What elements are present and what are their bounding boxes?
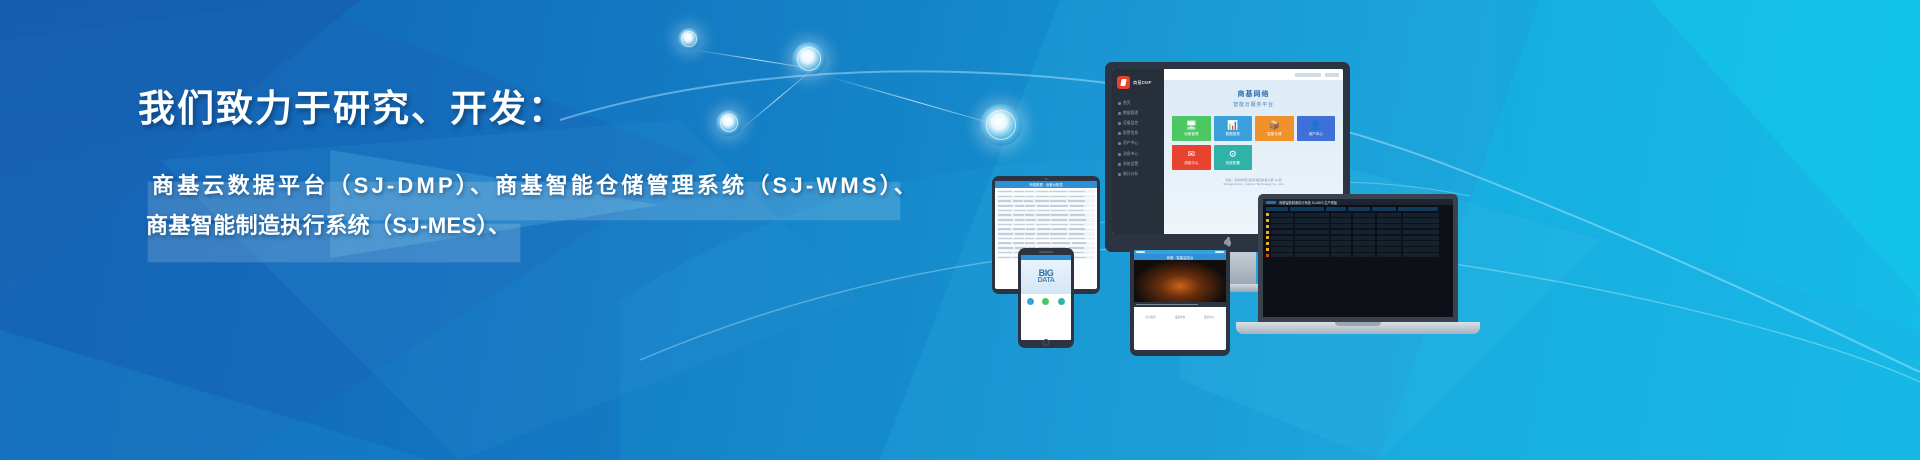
cell: [1377, 213, 1401, 217]
status-badge: [1266, 254, 1269, 257]
home-icon: [1118, 102, 1121, 105]
cell: [1403, 218, 1439, 222]
cell: [1353, 224, 1375, 228]
camera-icon: [1045, 178, 1048, 181]
page-title: 我们致力于研究、开发：: [138, 86, 958, 132]
status-badge: [1266, 236, 1269, 239]
cell: [1068, 200, 1085, 202]
cell: [1271, 230, 1293, 234]
cell: [1377, 247, 1401, 251]
laptop-mockup: 商基智能制造执行系统 SJ-MES 生产看板: [1258, 194, 1458, 322]
cell: [1069, 191, 1085, 193]
table-row[interactable]: [1266, 224, 1450, 228]
table-row[interactable]: [997, 213, 1095, 216]
cell: [1070, 224, 1084, 226]
tablet-portrait-mockup: 商基 · 智能监控台 实时监控 设备状态 报表中心: [1130, 244, 1230, 356]
cell: [998, 247, 1013, 249]
cell: [1050, 196, 1067, 198]
cell: [1050, 233, 1067, 235]
cell: [1403, 230, 1439, 234]
tile-spacer: [1255, 145, 1294, 170]
cell: [1271, 241, 1293, 245]
logo-icon: [1117, 76, 1130, 89]
cell: [1068, 238, 1085, 240]
dashboard-tile-3[interactable]: 👤用户中心: [1297, 116, 1336, 141]
cell: [1331, 218, 1351, 222]
cell: [1403, 224, 1439, 228]
sidebar-item-7[interactable]: 统计分析: [1117, 169, 1159, 179]
status-badge: [1266, 213, 1269, 216]
cell: [1271, 213, 1293, 217]
status-badge: [1266, 248, 1269, 251]
dashboard-tiles-row-1: 🖥设备管理 📊数据报表 📦智能仓储 👤用户中心: [1164, 108, 1343, 145]
table-row[interactable]: [997, 232, 1095, 235]
gear-icon: ⚙: [1229, 150, 1237, 159]
col-1: [1290, 207, 1324, 211]
hero-copy: 我们致力于研究、开发： 商基云数据平台（SJ-DMP）、商基智能仓储管理系统（S…: [138, 86, 958, 246]
cell: [1014, 191, 1024, 193]
cell: [1271, 253, 1293, 257]
sidebar-item-label: 首页: [1123, 101, 1131, 106]
cell: [1353, 236, 1375, 240]
cell: [1295, 213, 1329, 217]
table-row[interactable]: [997, 195, 1095, 198]
table-row[interactable]: [1266, 253, 1450, 257]
cell: [998, 205, 1013, 207]
cell: [1036, 214, 1050, 216]
cell: [1295, 253, 1329, 257]
cell: [1377, 224, 1401, 228]
cell: [1013, 242, 1024, 244]
cell: [1069, 228, 1085, 230]
chart-icon: [1118, 173, 1121, 176]
cell: [1353, 230, 1375, 234]
cell: [1037, 210, 1050, 212]
cell: [998, 219, 1013, 221]
phone-mockup: BIG DATA: [1018, 248, 1074, 348]
cell: [1353, 241, 1375, 245]
cell: [1070, 214, 1085, 216]
user-icon: [1118, 142, 1121, 145]
dashboard-sidebar[interactable]: 商基DMP 首页 数据管理 设备监控 报警信息 用户中心 消息中心 系统设置 统…: [1112, 69, 1164, 234]
tablet-title: 商基数据 · 设备台账表: [1029, 182, 1063, 187]
cell: [1331, 224, 1351, 228]
col-4: [1372, 207, 1396, 211]
device-cluster: 商基DMP 首页 数据管理 设备监控 报警信息 用户中心 消息中心 系统设置 统…: [1010, 48, 1530, 348]
sidebar-item-6[interactable]: 系统设置: [1117, 159, 1159, 169]
cell: [1353, 247, 1375, 251]
product-line-2: 商基智能制造执行系统（SJ-MES）、: [138, 206, 517, 246]
trackpad-notch: [1335, 322, 1381, 326]
phone-hero: BIG DATA: [1021, 260, 1071, 294]
cell: [1295, 241, 1329, 245]
tile-label: 设备管理: [1184, 132, 1198, 137]
cell: [1036, 238, 1049, 240]
cell: [1068, 210, 1084, 212]
table-row[interactable]: [997, 204, 1095, 207]
sidebar-item-2[interactable]: 设备监控: [1117, 118, 1159, 128]
cell: [1403, 253, 1439, 257]
cell: [1013, 228, 1025, 230]
box-icon: 📦: [1269, 121, 1280, 130]
cell: [1038, 219, 1050, 221]
bigdata-data: DATA: [1038, 277, 1055, 285]
mes-title: 商基智能制造执行系统 SJ-MES 生产看板: [1279, 200, 1337, 205]
dashboard-topbar: [1164, 69, 1343, 80]
sidebar-item-label: 设备监控: [1123, 121, 1138, 126]
cell: [998, 257, 1011, 259]
cell: [1025, 238, 1034, 240]
table-row[interactable]: [997, 209, 1095, 212]
cell: [1025, 191, 1034, 193]
tablet-app-1[interactable]: 设备状态: [1167, 313, 1192, 319]
dashboard-tile-2[interactable]: 📦智能仓储: [1255, 116, 1294, 141]
phone-screen: BIG DATA: [1021, 255, 1071, 340]
tile-label: 数据报表: [1226, 132, 1240, 137]
cell: [1331, 253, 1351, 257]
table-row[interactable]: [1266, 241, 1450, 245]
cell: [1353, 218, 1375, 222]
bell-icon: [1118, 132, 1121, 135]
cell: [998, 214, 1011, 216]
cell: [1015, 219, 1025, 221]
cell: [1015, 233, 1024, 235]
dashboard-tile-5[interactable]: ⚙系统配置: [1214, 145, 1253, 170]
cell: [1037, 233, 1049, 235]
cell: [1026, 224, 1034, 226]
app-icon-1[interactable]: [1027, 298, 1034, 305]
bigdata-wordmark: BIG DATA: [1038, 269, 1055, 285]
col-5: [1398, 207, 1438, 211]
table-row[interactable]: [997, 228, 1095, 231]
cell: [1271, 247, 1293, 251]
cell: [998, 210, 1012, 212]
status-badge: [1266, 219, 1269, 222]
cell: [1051, 214, 1068, 216]
speaker-icon: [1039, 251, 1053, 253]
tablet-portrait-screen: 商基 · 智能监控台 实时监控 设备状态 报表中心: [1134, 250, 1226, 350]
cell: [998, 233, 1013, 235]
table-row[interactable]: [997, 190, 1095, 193]
cell: [1050, 238, 1066, 240]
cell: [1026, 228, 1035, 230]
col-0: [1266, 207, 1288, 211]
laptop-base: [1236, 322, 1480, 334]
cell: [1027, 210, 1035, 212]
sidebar-item-4[interactable]: 用户中心: [1117, 139, 1159, 149]
caption-bar: [1136, 304, 1198, 305]
cell: [1036, 196, 1049, 198]
table-row[interactable]: [1266, 236, 1450, 240]
cell: [1026, 196, 1034, 198]
tile-label: 用户中心: [1309, 132, 1323, 137]
brand-logo: 商基DMP: [1117, 76, 1159, 89]
cell: [1037, 205, 1049, 207]
cell: [1036, 224, 1049, 226]
user-icon: 👤: [1310, 121, 1321, 130]
table-row[interactable]: [1266, 247, 1450, 251]
network-node: [678, 28, 700, 50]
home-button-icon[interactable]: [1043, 339, 1050, 346]
tablet-app-label: 报表中心: [1197, 315, 1222, 319]
cell: [998, 191, 1012, 193]
col-3: [1348, 207, 1370, 211]
table-row[interactable]: [997, 242, 1095, 245]
mail-icon: ✉: [1187, 150, 1195, 159]
cell: [1014, 224, 1025, 226]
cell: [1069, 219, 1086, 221]
cell: [1271, 236, 1293, 240]
cell: [1025, 205, 1035, 207]
mes-table: [1263, 205, 1453, 261]
cell: [1050, 224, 1068, 226]
cell: [1271, 218, 1293, 222]
cell: [1050, 205, 1068, 207]
cell: [1025, 242, 1035, 244]
cell: [1025, 214, 1034, 216]
sidebar-item-label: 数据管理: [1123, 111, 1138, 116]
cell: [1025, 233, 1035, 235]
table-header-row: [1266, 207, 1450, 211]
table-row[interactable]: [997, 199, 1095, 202]
cell: [1331, 213, 1351, 217]
gear-icon: [1118, 163, 1121, 166]
cell: [1295, 247, 1329, 251]
cell: [998, 224, 1012, 226]
hero-subtext: 商基云数据平台（SJ-DMP）、商基智能仓储管理系统（SJ-WMS）、 商基智能…: [138, 166, 958, 246]
status-badge: [1266, 231, 1269, 234]
cell: [1036, 191, 1048, 193]
cell: [1403, 236, 1439, 240]
battery-icon: [1215, 251, 1224, 253]
dashboard-subtitle: 智能云服务平台: [1164, 101, 1343, 108]
sidebar-item-3[interactable]: 报警信息: [1117, 129, 1159, 139]
sidebar-item-label: 消息中心: [1123, 152, 1138, 157]
cell: [1295, 230, 1329, 234]
cell: [1037, 242, 1051, 244]
cell: [1070, 205, 1084, 207]
cell: [1037, 228, 1051, 230]
database-icon: [1118, 112, 1121, 115]
cell: [998, 242, 1011, 244]
dashboard-brand: 商基网络: [1164, 89, 1343, 99]
tablet-app-2[interactable]: 报表中心: [1197, 313, 1222, 319]
dashboard-tile-4[interactable]: ✉消息中心: [1172, 145, 1211, 170]
dashboard-tiles-row-2: ✉消息中心 ⚙系统配置: [1164, 145, 1343, 170]
cell: [1353, 253, 1375, 257]
sidebar-item-label: 报警信息: [1123, 131, 1138, 136]
video-preview[interactable]: [1134, 260, 1226, 302]
app-icon-3[interactable]: [1058, 298, 1065, 305]
search-icon[interactable]: [1295, 73, 1321, 77]
cell: [1331, 241, 1351, 245]
cell: [1050, 200, 1066, 202]
table-row[interactable]: [1266, 230, 1450, 234]
laptop-screen: 商基智能制造执行系统 SJ-MES 生产看板: [1263, 199, 1453, 317]
cell: [1014, 238, 1024, 240]
cell: [998, 196, 1012, 198]
cell: [1377, 230, 1401, 234]
cell: [1353, 213, 1375, 217]
status-badge: [1266, 242, 1269, 245]
cell: [1295, 224, 1329, 228]
cell: [1331, 236, 1351, 240]
sidebar-item-label: 用户中心: [1123, 141, 1138, 146]
cell: [998, 200, 1011, 202]
cell: [1026, 219, 1036, 221]
tablet-header: 商基数据 · 设备台账表: [995, 181, 1097, 188]
cell: [1403, 213, 1439, 217]
product-line-1-text: 商基云数据平台（SJ-DMP）、商基智能仓储管理系统（SJ-WMS）、: [152, 173, 919, 198]
col-2: [1326, 207, 1346, 211]
dashboard-tile-0[interactable]: 🖥设备管理: [1172, 116, 1211, 141]
app-icon-2[interactable]: [1042, 298, 1049, 305]
dashboard-tile-1[interactable]: 📊数据报表: [1214, 116, 1253, 141]
cell: [1013, 200, 1023, 202]
cell: [1015, 205, 1024, 207]
tile-label: 系统配置: [1226, 161, 1240, 166]
cell: [1035, 200, 1049, 202]
dashboard-footer-line-2: Shangji Group · Internet Technology Co.,…: [1170, 182, 1337, 186]
cell: [1295, 236, 1329, 240]
cell: [1377, 241, 1401, 245]
sidebar-item-0[interactable]: 首页: [1117, 98, 1159, 108]
sidebar-item-label: 统计分析: [1123, 172, 1138, 177]
table-row[interactable]: [997, 218, 1095, 221]
tablet-app-0[interactable]: 实时监控: [1138, 313, 1163, 319]
cell: [1069, 196, 1084, 198]
table-row[interactable]: [997, 223, 1095, 226]
chart-icon: 📊: [1227, 121, 1238, 130]
cell: [998, 228, 1011, 230]
tablet-app-label: 设备状态: [1167, 315, 1192, 319]
cell: [1014, 196, 1025, 198]
sidebar-item-5[interactable]: 消息中心: [1117, 149, 1159, 159]
dashboard-hero-title: 商基网络 智能云服务平台: [1164, 80, 1343, 108]
cell: [1051, 219, 1067, 221]
sidebar-item-label: 系统设置: [1123, 162, 1138, 167]
logo-text: 商基DMP: [1133, 80, 1152, 86]
monitor-icon: 🖥: [1186, 121, 1197, 130]
monitor-icon: [1118, 122, 1121, 125]
cell: [1377, 236, 1401, 240]
cell: [1014, 210, 1026, 212]
tile-label: 智能仓储: [1267, 132, 1281, 137]
cell: [1049, 191, 1067, 193]
sidebar-item-1[interactable]: 数据管理: [1117, 108, 1159, 118]
table-row[interactable]: [997, 237, 1095, 240]
cell: [1331, 230, 1351, 234]
product-line-2-text: 商基智能制造执行系统（SJ-MES）、: [146, 213, 511, 238]
cell: [1069, 233, 1084, 235]
hero-banner: 我们致力于研究、开发： 商基云数据平台（SJ-DMP）、商基智能仓储管理系统（S…: [0, 0, 1920, 460]
cell: [1051, 210, 1066, 212]
cell: [1377, 218, 1401, 222]
cell: [1377, 253, 1401, 257]
cell: [1403, 247, 1439, 251]
tablet-icon-grid: 实时监控 设备状态 报表中心: [1134, 307, 1226, 325]
cell: [1052, 242, 1070, 244]
cell: [1271, 224, 1293, 228]
tile-label: 消息中心: [1184, 161, 1198, 166]
product-line-1: 商基云数据平台（SJ-DMP）、商基智能仓储管理系统（SJ-WMS）、: [138, 166, 925, 206]
logo-icon: [1266, 201, 1276, 204]
network-node: [792, 42, 826, 76]
cell: [1013, 214, 1024, 216]
signal-icon: [1136, 251, 1145, 253]
dashboard-footer: 地址：深圳市南山区科技园商基大厦 10 层 Shangji Group · In…: [1164, 170, 1343, 186]
cell: [1331, 247, 1351, 251]
cell: [998, 238, 1012, 240]
cell: [1052, 228, 1067, 230]
cell: [1024, 200, 1033, 202]
tablet-app-label: 实时监控: [1138, 315, 1163, 319]
cell: [1072, 242, 1086, 244]
table-row[interactable]: [1266, 213, 1450, 217]
cell: [1295, 218, 1329, 222]
table-row[interactable]: [1266, 218, 1450, 222]
phone-icon-grid: [1021, 294, 1071, 309]
cell: [998, 252, 1012, 254]
laptop-lid: 商基智能制造执行系统 SJ-MES 生产看板: [1258, 194, 1458, 322]
avatar[interactable]: [1325, 73, 1339, 77]
status-badge: [1266, 225, 1269, 228]
mail-icon: [1118, 153, 1121, 156]
cell: [1403, 241, 1439, 245]
tile-spacer: [1297, 145, 1336, 170]
